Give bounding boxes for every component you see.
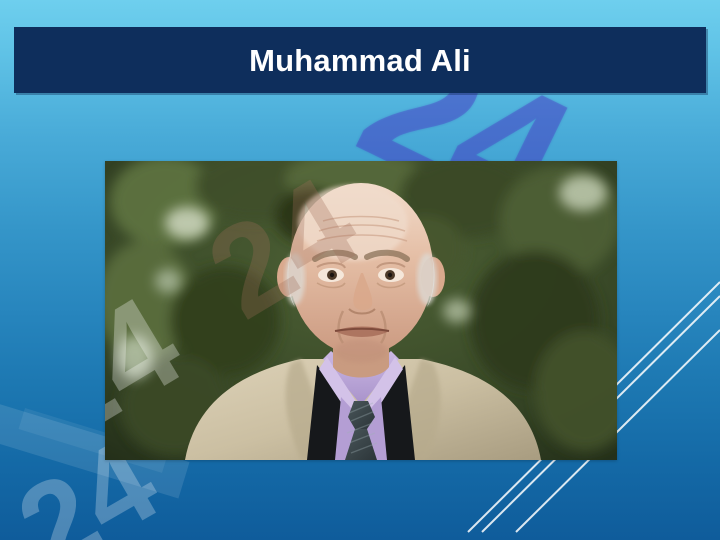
portrait-photo-image <box>105 161 617 460</box>
slide-title: Muhammad Ali <box>249 45 471 76</box>
presentation-slide: 24 24 <box>0 0 720 540</box>
portrait-photo: 24 24 <box>105 161 617 460</box>
portrait-photo-frame: 24 24 <box>105 161 617 460</box>
slide-title-bar: Muhammad Ali <box>14 27 706 93</box>
